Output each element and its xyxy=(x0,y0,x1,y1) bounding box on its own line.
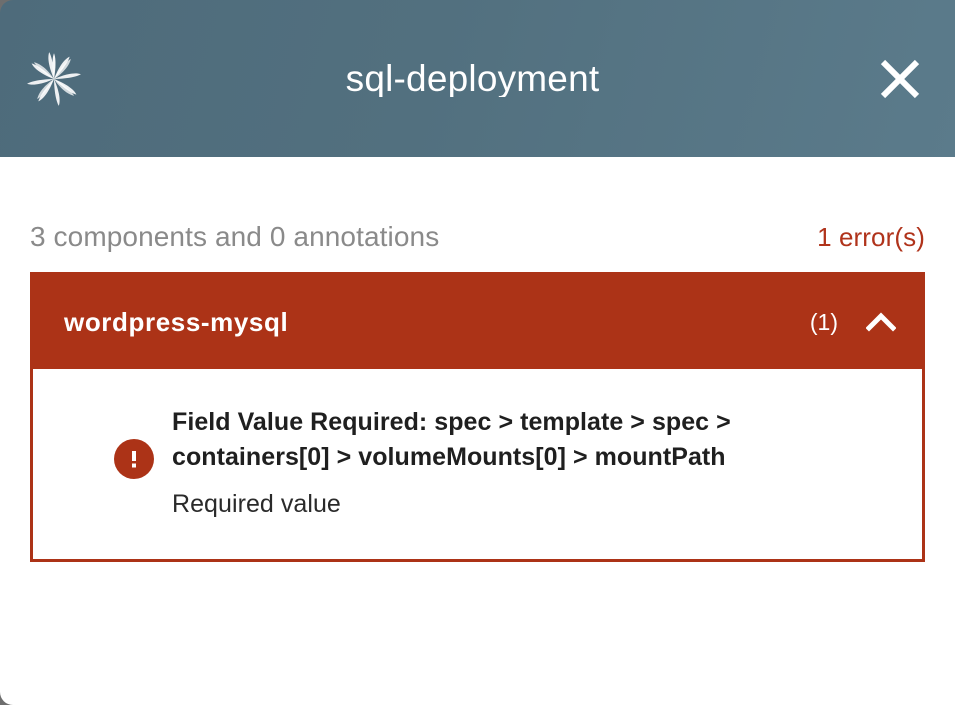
summary-row: 3 components and 0 annotations 1 error(s… xyxy=(30,157,925,251)
modal-title-bar: sql-deployment xyxy=(0,0,955,157)
component-name: wordpress-mysql xyxy=(64,309,810,335)
issue-title: Field Value Required: spec > template > … xyxy=(172,405,782,474)
chevron-up-icon xyxy=(866,312,896,332)
validation-modal: sql-deployment 3 components and 0 annota… xyxy=(0,0,955,705)
close-icon xyxy=(877,56,923,102)
exclamation-circle-icon xyxy=(114,439,154,479)
component-issue-count: (1) xyxy=(810,311,838,334)
modal-body: 3 components and 0 annotations 1 error(s… xyxy=(0,157,955,705)
summary-counts-label: 3 components and 0 annotations xyxy=(30,223,439,251)
component-accordion-header[interactable]: wordpress-mysql (1) xyxy=(33,275,922,369)
error-count-label: 1 error(s) xyxy=(817,224,925,250)
component-issue-list: Field Value Required: spec > template > … xyxy=(33,369,922,559)
issue-text-block: Field Value Required: spec > template > … xyxy=(172,403,898,521)
close-button[interactable] xyxy=(873,52,927,106)
issue-detail: Required value xyxy=(172,488,898,521)
collapse-toggle-button[interactable] xyxy=(864,305,898,339)
modal-title: sql-deployment xyxy=(72,60,873,97)
component-card: wordpress-mysql (1) Field Value Requi xyxy=(30,272,925,562)
